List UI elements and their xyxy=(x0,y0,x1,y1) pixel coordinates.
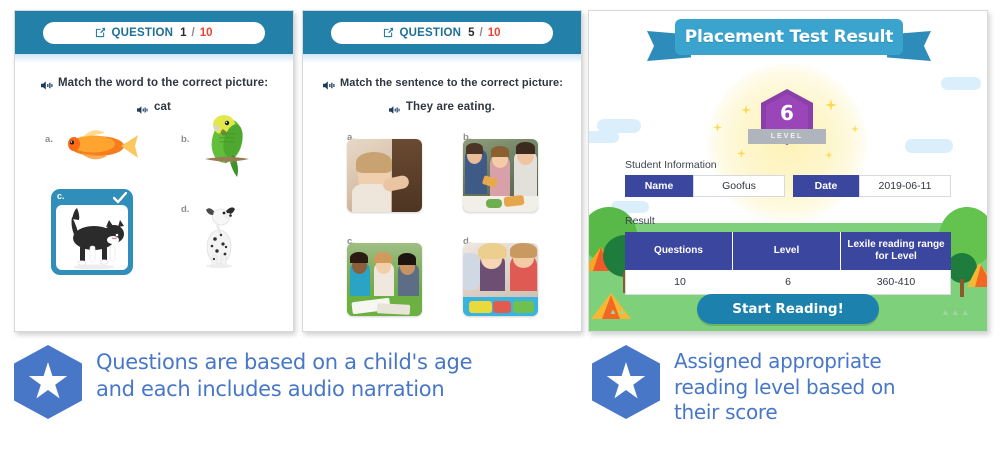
table-header-lexile: Lexile reading range for Level xyxy=(841,232,951,270)
ribbon-title: Placement Test Result xyxy=(675,19,903,55)
result-background: ▲▲▲ ▲▲ Placement Test Result 6 xyxy=(589,11,987,331)
question-separator: / xyxy=(192,27,195,39)
caption-right: Assigned appropriate reading level based… xyxy=(592,345,992,426)
cloud-icon xyxy=(905,139,953,153)
cloud-icon xyxy=(941,77,981,90)
mountains-decoration: ▲▲ xyxy=(609,307,627,316)
placement-result-card: ▲▲▲ ▲▲ Placement Test Result 6 xyxy=(588,10,988,332)
star-hexagon-icon xyxy=(14,345,82,419)
cell-level: 6 xyxy=(734,270,842,294)
question-header: QUESTION 5 / 10 xyxy=(303,11,581,54)
cell-lexile-range: 360-410 xyxy=(842,270,950,294)
table-header-level: Level xyxy=(733,232,841,270)
header-underline xyxy=(303,54,581,63)
goldfish-image[interactable] xyxy=(53,123,139,167)
date-field-key: Date xyxy=(793,175,859,197)
option-letter: b. xyxy=(181,134,189,145)
question-separator: / xyxy=(480,27,483,39)
table-header-row: Questions Level Lexile reading range for… xyxy=(625,232,951,270)
start-reading-label: Start Reading! xyxy=(732,301,843,317)
caption-left-text: Questions are based on a child's age and… xyxy=(96,345,472,403)
question-total: 10 xyxy=(200,27,213,39)
family-eating-pizza-photo[interactable] xyxy=(463,139,538,212)
question-body: Match the word to the correct picture: c… xyxy=(15,77,293,332)
question-header: QUESTION 1 / 10 xyxy=(15,11,293,54)
cloud-icon xyxy=(589,131,619,143)
name-field-value[interactable]: Goofus xyxy=(693,175,785,197)
pencil-edit-icon xyxy=(95,27,106,38)
answer-option-a[interactable]: a. xyxy=(45,129,53,147)
result-table: Questions Level Lexile reading range for… xyxy=(625,232,951,295)
name-field-key: Name xyxy=(625,175,693,197)
question-total: 10 xyxy=(488,27,501,39)
question-counter-pill: QUESTION 1 / 10 xyxy=(43,22,265,44)
answer-option-d[interactable]: d. xyxy=(181,199,189,217)
dalmatian-dog-image[interactable] xyxy=(195,197,243,269)
pencil-edit-icon xyxy=(383,27,394,38)
level-ribbon-label: LEVEL xyxy=(771,133,804,140)
caption-right-text: Assigned appropriate reading level based… xyxy=(674,345,895,426)
student-information-label: Student Information xyxy=(625,159,717,171)
date-field-row: Date 2019-06-11 xyxy=(793,175,951,197)
caption-left-line2: and each includes audio narration xyxy=(96,376,472,403)
caption-left: Questions are based on a child's age and… xyxy=(14,345,534,419)
option-letter: a. xyxy=(45,134,53,145)
table-row: 10 6 360-410 xyxy=(625,270,951,295)
answer-grid: a. b. xyxy=(15,77,293,332)
tent-icon xyxy=(967,263,987,287)
photo-answer-grid: a. b. xyxy=(303,77,581,332)
girl-hugging-mother-photo[interactable] xyxy=(347,139,422,212)
children-playing-board-game-photo[interactable] xyxy=(463,243,538,316)
caption-left-line1: Questions are based on a child's age xyxy=(96,349,472,376)
star-hexagon-icon xyxy=(592,345,660,419)
start-reading-button[interactable]: Start Reading! xyxy=(697,294,879,324)
header-underline xyxy=(15,54,293,63)
caption-right-line1: Assigned appropriate xyxy=(674,349,895,375)
question-number: 1 xyxy=(180,27,186,39)
option-letter: c. xyxy=(57,191,65,201)
level-ribbon: LEVEL xyxy=(748,129,826,144)
question-number: 5 xyxy=(468,27,474,39)
screenshot-stage: QUESTION 1 / 10 Match the word to the co… xyxy=(0,0,1000,450)
result-label: Result xyxy=(625,215,655,227)
children-reading-on-grass-photo[interactable] xyxy=(347,243,422,316)
level-badge: 6 LEVEL xyxy=(761,89,813,145)
date-field-value[interactable]: 2019-06-11 xyxy=(859,175,951,197)
question-label: QUESTION xyxy=(111,27,173,39)
parakeet-image[interactable] xyxy=(193,107,263,179)
question-card-1: QUESTION 1 / 10 Match the word to the co… xyxy=(14,10,294,332)
table-header-questions: Questions xyxy=(625,232,733,270)
mountains-decoration: ▲▲▲ xyxy=(941,307,971,317)
level-number: 6 xyxy=(761,101,813,125)
name-field-row: Name Goofus xyxy=(625,175,785,197)
cell-questions: 10 xyxy=(626,270,734,294)
question-card-2: QUESTION 5 / 10 Match the sentence to th… xyxy=(302,10,582,332)
caption-right-line3: their score xyxy=(674,400,895,426)
question-label: QUESTION xyxy=(399,27,461,39)
caption-right-line2: reading level based on xyxy=(674,375,895,401)
cat-image xyxy=(56,205,128,270)
answer-option-c-selected[interactable]: c. xyxy=(51,189,133,275)
answer-option-b[interactable]: b. xyxy=(181,129,189,147)
option-letter: d. xyxy=(181,204,189,215)
result-ribbon: Placement Test Result xyxy=(641,17,937,65)
question-body: Match the sentence to the correct pictur… xyxy=(303,77,581,332)
question-counter-pill: QUESTION 5 / 10 xyxy=(331,22,553,44)
